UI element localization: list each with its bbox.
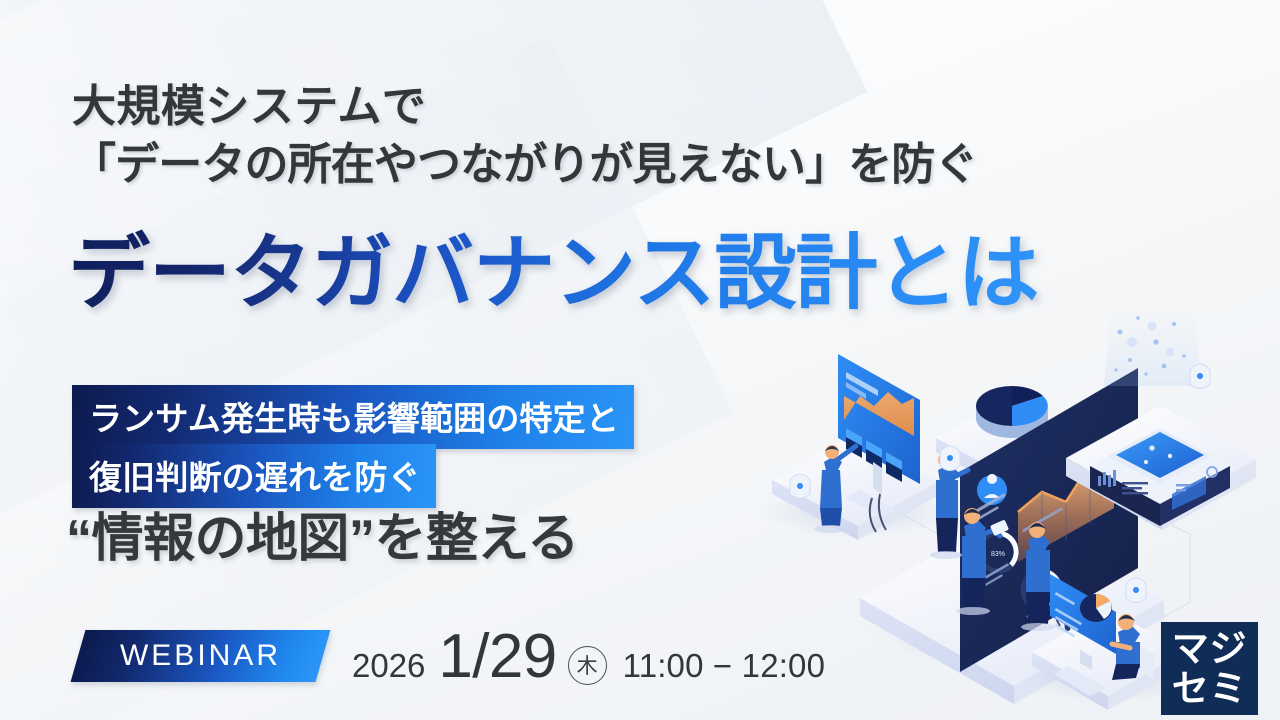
event-day-of-week: 木 (568, 646, 607, 685)
page-title: データガバナンス設計とは (68, 222, 1039, 326)
sub-banner-1: ランサム発生時も影響範囲の特定と (72, 385, 634, 449)
webinar-banner: 83% 76% (0, 0, 1280, 720)
webinar-badge: WEBINAR (71, 630, 331, 682)
monitor-pie (1080, 594, 1112, 622)
sub-banner-2: 復旧判断の遅れを防ぐ (72, 444, 436, 508)
quote-line: “情報の地図”を整える (66, 505, 579, 573)
webinar-badge-label: WEBINAR (78, 630, 323, 682)
headline-line-1: 大規模システムで (72, 78, 1172, 136)
headline-line-2: 「データの所在やつながりが見えない」を防ぐ (72, 136, 1172, 194)
floating-icon-2 (940, 446, 960, 471)
headline-block: 大規模システムで 「データの所在やつながりが見えない」を防ぐ (72, 78, 1172, 194)
logo-line-1: マジ (1172, 629, 1247, 669)
event-year: 2026 (352, 647, 425, 685)
logo-line-2: セミ (1172, 669, 1247, 709)
floating-icon-4 (1126, 578, 1146, 603)
floating-icon-1 (790, 474, 810, 499)
event-month-day: 1/29 (438, 626, 556, 688)
date-bar: 2026 1/29 木 11:00 − 12:00 (352, 626, 825, 689)
svg-text:83%: 83% (991, 551, 1005, 558)
event-time-range: 11:00 − 12:00 (623, 647, 825, 685)
floating-icon-3 (1190, 364, 1210, 389)
data-particle-stream (1104, 312, 1202, 386)
majisemi-logo: マジ セミ (1161, 622, 1258, 715)
background-band-1 (0, 0, 1117, 66)
